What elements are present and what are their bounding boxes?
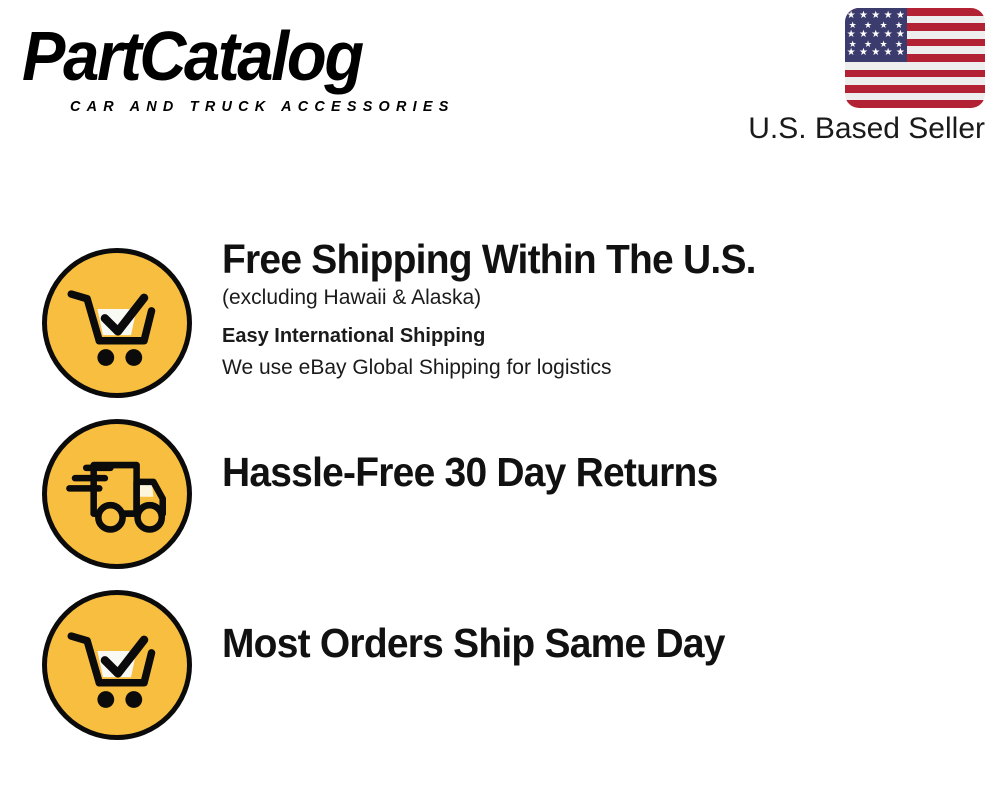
feature-heading: Most Orders Ship Same Day: [222, 620, 944, 666]
delivery-truck-icon: [42, 419, 192, 569]
feature-row: Free Shipping Within The U.S. (excluding…: [0, 228, 1000, 399]
page-header: PartCatalog CAR AND TRUCK ACCESSORIES: [0, 0, 1000, 170]
brand-logo[interactable]: PartCatalog CAR AND TRUCK ACCESSORIES: [22, 20, 492, 115]
seller-label: U.S. Based Seller: [705, 112, 985, 146]
feature-text: Most Orders Ship Same Day: [222, 620, 982, 666]
feature-text: Hassle-Free 30 Day Returns: [222, 449, 982, 495]
feature-row: Most Orders Ship Same Day: [0, 570, 1000, 741]
feature-subdetail: We use eBay Global Shipping for logistic…: [222, 352, 982, 383]
flag-canton: ★★★★★ ★★★★ ★★★★★ ★★★★ ★★★★★: [845, 8, 907, 62]
feature-text: Free Shipping Within The U.S. (excluding…: [222, 236, 982, 383]
shopping-cart-check-icon: [42, 590, 192, 740]
feature-heading: Free Shipping Within The U.S.: [222, 236, 944, 282]
feature-row: Hassle-Free 30 Day Returns: [0, 399, 1000, 570]
shopping-cart-check-icon: [42, 248, 192, 398]
feature-subnote: (excluding Hawaii & Alaska): [222, 282, 982, 313]
seller-badge: ★★★★★ ★★★★ ★★★★★ ★★★★ ★★★★★ U.S. Based S…: [705, 8, 985, 146]
us-flag-icon: ★★★★★ ★★★★ ★★★★★ ★★★★ ★★★★★: [845, 8, 985, 108]
brand-wordmark: PartCatalog: [22, 20, 362, 92]
feature-heading: Hassle-Free 30 Day Returns: [222, 449, 944, 495]
brand-tagline: CAR AND TRUCK ACCESSORIES: [70, 98, 455, 115]
feature-subheading: Easy International Shipping: [222, 321, 982, 352]
